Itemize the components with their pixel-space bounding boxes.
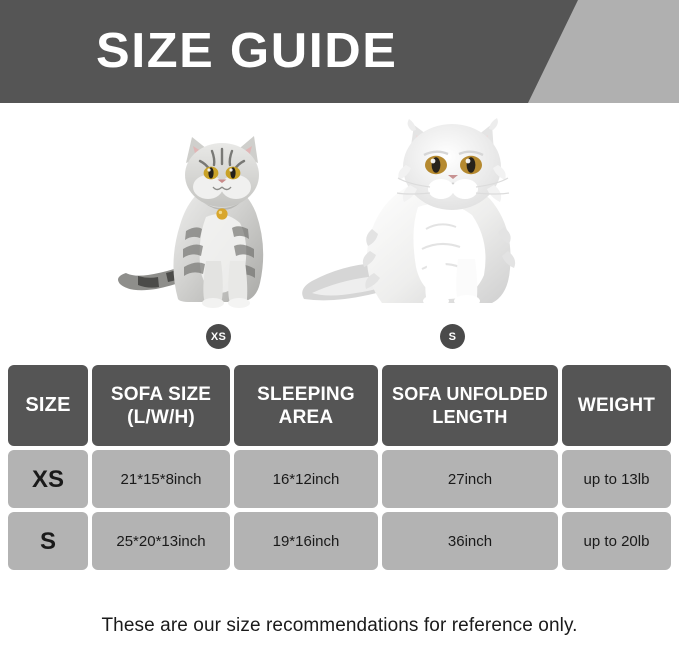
table-header-sleeping-area-label: SLEEPING AREA [257, 383, 355, 429]
table-header-size-label: SIZE [25, 394, 70, 417]
cell-size: S [8, 512, 88, 570]
size-table: SIZE SOFA SIZE (L/W/H) SLEEPING AREA SOF… [0, 365, 679, 575]
cell-sofa-size: 25*20*13inch [92, 512, 230, 570]
cell-sleeping-area: 16*12inch [234, 450, 378, 508]
page-title: SIZE GUIDE [96, 20, 398, 82]
cat-white-persian-longhair-sitting-icon [298, 103, 566, 313]
footer-note: These are our size recommendations for r… [101, 614, 577, 638]
table-header-sofa-size-label: SOFA SIZE (L/W/H) [111, 383, 211, 429]
table-row: XS 21*15*8inch 16*12inch 27inch up to 13… [0, 450, 679, 508]
product-photo-area: XS S [0, 103, 679, 365]
cell-sleeping-area: 19*16inch [234, 512, 378, 570]
table-header-weight-label: WEIGHT [578, 394, 655, 417]
cat-silver-tabby-sitting-icon [108, 113, 298, 313]
table-row: S 25*20*13inch 19*16inch 36inch up to 20… [0, 512, 679, 570]
page-banner: SIZE GUIDE [0, 0, 679, 103]
cell-sofa-unfolded-length: 27inch [382, 450, 558, 508]
table-header-weight: WEIGHT [562, 365, 671, 446]
footer-note-area: These are our size recommendations for r… [0, 600, 679, 651]
size-badge-xs: XS [206, 324, 231, 349]
cell-sofa-size: 21*15*8inch [92, 450, 230, 508]
table-header-sofa-unfolded-length-label: SOFA UNFOLDED LENGTH [392, 383, 548, 429]
table-header-sofa-unfolded-length: SOFA UNFOLDED LENGTH [382, 365, 558, 446]
cell-sofa-unfolded-length: 36inch [382, 512, 558, 570]
cell-size: XS [8, 450, 88, 508]
cell-weight: up to 13lb [562, 450, 671, 508]
table-header-sofa-size: SOFA SIZE (L/W/H) [92, 365, 230, 446]
size-badge-s: S [440, 324, 465, 349]
table-header-size: SIZE [8, 365, 88, 446]
table-header-sleeping-area: SLEEPING AREA [234, 365, 378, 446]
cell-weight: up to 20lb [562, 512, 671, 570]
table-header-row: SIZE SOFA SIZE (L/W/H) SLEEPING AREA SOF… [0, 365, 679, 446]
